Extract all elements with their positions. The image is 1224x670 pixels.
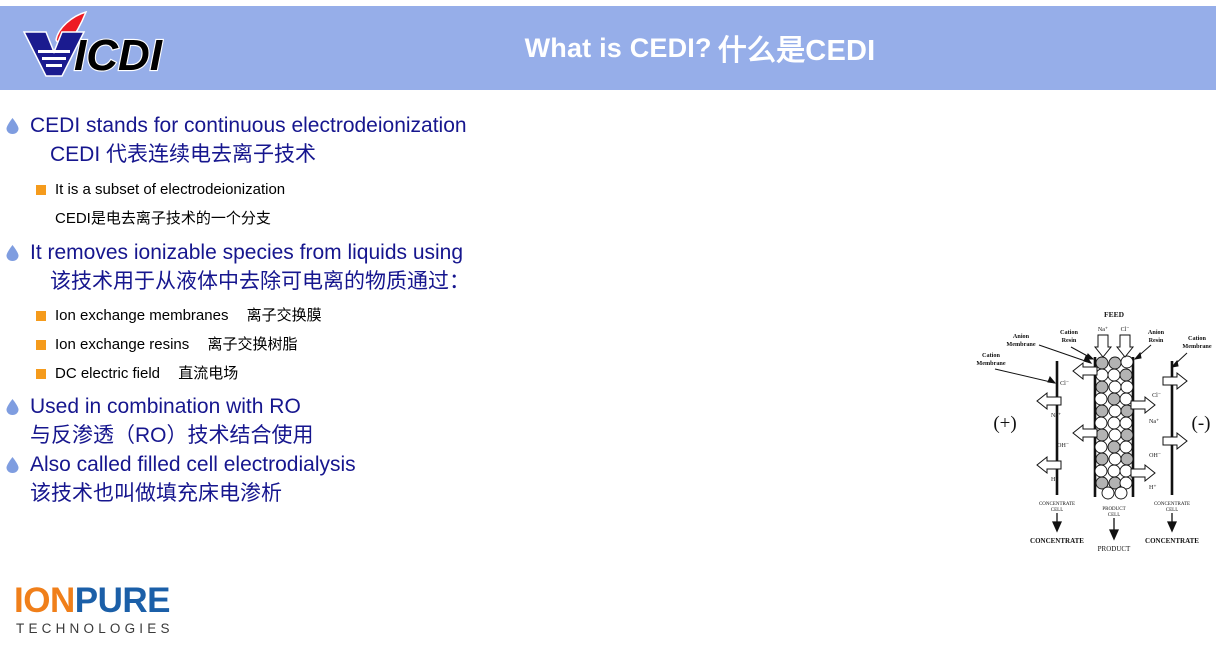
bullet-text-en: Also called filled cell electrodialysis bbox=[30, 453, 356, 476]
square-bullet-icon bbox=[36, 340, 46, 350]
feed-inlet-arrows bbox=[1095, 335, 1133, 357]
product-cell-line1: PRODUCT bbox=[1102, 507, 1125, 512]
sub-bullet-text-en: Ion exchange membranes bbox=[55, 307, 228, 324]
bullet-item: Also called filled cell electrodialysis bbox=[0, 451, 640, 478]
feed-ion-na: Na⁺ bbox=[1098, 327, 1108, 333]
page-title-en: What is CEDI? bbox=[525, 33, 712, 64]
concentrate-outlet-right: CONCENTRATE bbox=[1145, 537, 1199, 545]
bullet-text-en: It removes ionizable species from liquid… bbox=[30, 241, 463, 264]
sub-bullet-text-en: Ion exchange resins bbox=[55, 336, 189, 353]
feed-label: FEED bbox=[1104, 310, 1125, 319]
water-drop-bullet-icon bbox=[6, 457, 19, 473]
anion-membrane-label-line2: Membrane bbox=[1006, 341, 1035, 348]
bullet-item: CEDI stands for continuous electrodeioni… bbox=[0, 112, 640, 139]
page-title-cn: 什么是CEDI bbox=[718, 27, 876, 69]
ionpure-tagline: TECHNOLOGIES bbox=[14, 620, 214, 638]
ion-label-cl-right: Cl⁻ bbox=[1152, 393, 1161, 399]
water-drop-bullet-icon bbox=[6, 118, 19, 134]
concentrate-outlet-left: CONCENTRATE bbox=[1030, 537, 1084, 545]
bullet-text-cn: 与反渗透（RO）技术结合使用 bbox=[0, 420, 640, 451]
sub-bullet-text-en: DC electric field bbox=[55, 365, 160, 382]
sub-bullet-text-cn: CEDI是电去离子技术的一个分支 bbox=[0, 208, 640, 230]
page-title: What is CEDI? 什么是CEDI bbox=[200, 6, 1200, 90]
cation-membrane-right-label-line2: Membrane bbox=[1182, 343, 1211, 350]
ionpure-word-part1: ION bbox=[14, 581, 75, 620]
icdi-logo: ICDI bbox=[12, 10, 187, 82]
sub-bullet-text-cn: 离子交换膜 bbox=[247, 307, 322, 324]
cation-membrane-left-label-line1: Cation bbox=[982, 352, 1000, 359]
ionpure-wordmark: IONPURE bbox=[14, 582, 214, 620]
sub-bullet-text-en: It is a subset of electrodeionization bbox=[55, 181, 285, 198]
cation-membrane-right-label-line1: Cation bbox=[1188, 335, 1206, 342]
anion-resin-label-line1: Anion bbox=[1148, 329, 1165, 336]
sub-bullet-text-cn: 直流电场 bbox=[178, 365, 238, 382]
concentrate-cell-left-line1: CONCENTRATE bbox=[1039, 502, 1075, 507]
icdi-wordmark: ICDI bbox=[74, 31, 163, 80]
sub-bullet-item: DC electric field 直流电场 bbox=[0, 363, 640, 385]
cation-membrane-left-label-line2: Membrane bbox=[976, 360, 1005, 367]
resin-bead-bed bbox=[1095, 356, 1133, 499]
bullet-text-cn: 该技术用于从液体中去除可电离的物质通过： bbox=[0, 266, 640, 297]
ion-label-oh-left: OH⁻ bbox=[1057, 443, 1069, 449]
bullet-item: It removes ionizable species from liquid… bbox=[0, 239, 640, 266]
product-cell-line2: CELL bbox=[1108, 513, 1121, 518]
concentrate-cell-right-line2: CELL bbox=[1166, 508, 1179, 513]
sub-bullet-item: Ion exchange membranes 离子交换膜 bbox=[0, 305, 640, 327]
ion-label-na-right: Na⁺ bbox=[1149, 419, 1159, 425]
bullet-item: Used in combination with RO bbox=[0, 393, 640, 420]
bullet-text-en: Used in combination with RO bbox=[30, 395, 301, 418]
water-drop-bullet-icon bbox=[6, 399, 19, 415]
feed-ion-cl: Cl⁻ bbox=[1121, 327, 1130, 333]
anion-resin-label-line2: Resin bbox=[1149, 337, 1164, 344]
water-drop-bullet-icon bbox=[6, 245, 19, 261]
anion-membrane-label-line1: Anion bbox=[1013, 333, 1030, 340]
ion-label-oh-right: OH⁻ bbox=[1149, 453, 1161, 459]
ion-label-h-right: H⁺ bbox=[1149, 485, 1157, 491]
ion-label-cl-left: Cl⁻ bbox=[1060, 381, 1069, 387]
ion-label-na-left: Na⁺ bbox=[1051, 413, 1061, 419]
concentrate-cell-right-line1: CONCENTRATE bbox=[1154, 502, 1190, 507]
ionpure-word-part2: PURE bbox=[75, 581, 170, 620]
square-bullet-icon bbox=[36, 185, 46, 195]
cedi-cell-diagram: FEED Na⁺ Cl⁻ Anion Membrane Cation Resin… bbox=[965, 305, 1215, 555]
sub-bullet-item: It is a subset of electrodeionization bbox=[0, 179, 640, 201]
square-bullet-icon bbox=[36, 311, 46, 321]
bullet-text-cn: 该技术也叫做填充床电渗析 bbox=[0, 478, 640, 509]
ionpure-logo: IONPURE TECHNOLOGIES bbox=[14, 582, 214, 638]
square-bullet-icon bbox=[36, 369, 46, 379]
cation-resin-label-line1: Cation bbox=[1060, 329, 1078, 336]
negative-electrode-label: (-) bbox=[1192, 413, 1211, 434]
bullet-text-cn: CEDI 代表连续电去离子技术 bbox=[0, 139, 640, 170]
sub-bullet-text-cn: 离子交换树脂 bbox=[207, 336, 297, 353]
product-outlet: PRODUCT bbox=[1098, 545, 1131, 553]
sub-bullet-item: Ion exchange resins 离子交换树脂 bbox=[0, 334, 640, 356]
slide-body: CEDI stands for continuous electrodeioni… bbox=[0, 112, 640, 509]
bullet-text-en: CEDI stands for continuous electrodeioni… bbox=[30, 114, 467, 137]
concentrate-cell-left-line2: CELL bbox=[1051, 508, 1064, 513]
cation-resin-label-line2: Resin bbox=[1062, 337, 1077, 344]
callout-leader-lines bbox=[995, 345, 1187, 383]
ion-label-h-left: H⁺ bbox=[1051, 477, 1059, 483]
positive-electrode-label: (+) bbox=[993, 413, 1016, 434]
